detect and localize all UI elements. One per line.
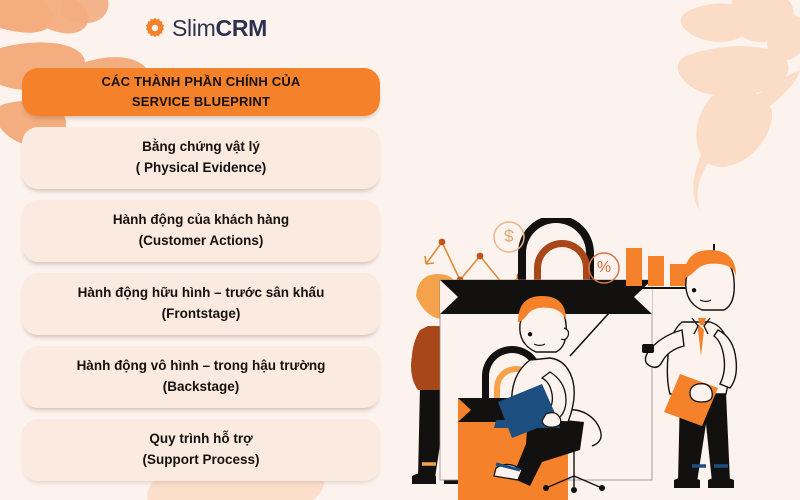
component-label-en: (Frontstage): [162, 304, 241, 325]
brand-name-crm: CRM: [216, 15, 267, 41]
brand-name-slim: Slim: [172, 15, 216, 41]
service-blueprint-components-list: CÁC THÀNH PHẦN CHÍNH CỦA SERVICE BLUEPRI…: [22, 68, 380, 492]
brand-logo: SlimCRM: [144, 12, 267, 44]
brand-wordmark: SlimCRM: [172, 17, 267, 40]
business-analytics-illustration: $ %: [398, 218, 800, 500]
component-row-support-process: Quy trình hỗ trợ (Support Process): [22, 419, 380, 481]
component-row-physical-evidence: Bằng chứng vật lý ( Physical Evidence): [22, 127, 380, 189]
component-label-en: ( Physical Evidence): [136, 158, 267, 179]
components-header-line2: SERVICE BLUEPRINT: [132, 92, 270, 112]
svg-text:$: $: [504, 226, 514, 245]
component-label-en: (Backstage): [163, 377, 240, 398]
component-row-customer-actions: Hành động của khách hàng (Customer Actio…: [22, 200, 380, 262]
currency-badge: $: [494, 222, 524, 252]
component-label-vi: Bằng chứng vật lý: [142, 137, 260, 158]
svg-text:%: %: [597, 257, 611, 274]
component-label-vi: Quy trình hỗ trợ: [149, 429, 252, 450]
gear-icon: [144, 17, 166, 39]
component-label-vi: Hành động hữu hình – trước sân khấu: [78, 283, 325, 304]
components-header-line1: CÁC THÀNH PHẦN CHÍNH CỦA: [101, 72, 300, 92]
components-header: CÁC THÀNH PHẦN CHÍNH CỦA SERVICE BLUEPRI…: [22, 68, 380, 116]
component-label-en: (Support Process): [142, 450, 259, 471]
component-row-frontstage: Hành động hữu hình – trước sân khấu (Fro…: [22, 273, 380, 335]
component-label-en: (Customer Actions): [139, 231, 264, 252]
component-row-backstage: Hành động vô hình – trong hậu trường (Ba…: [22, 346, 380, 408]
decor-petals-top-right: [678, 0, 800, 210]
component-label-vi: Hành động của khách hàng: [113, 210, 289, 231]
component-label-vi: Hành động vô hình – trong hậu trường: [77, 356, 326, 377]
